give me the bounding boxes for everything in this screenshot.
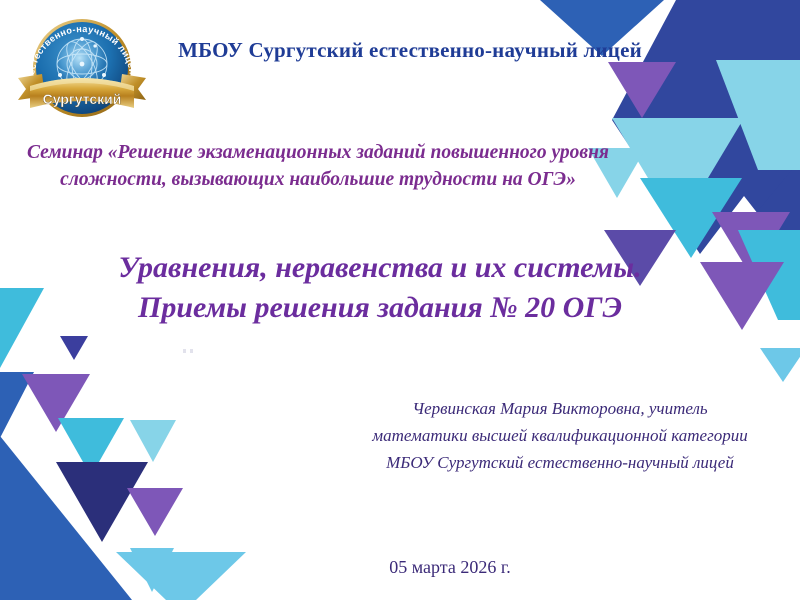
triangle-purple-low-right: [700, 262, 784, 330]
triangle-light-blue-right-low: [760, 348, 800, 382]
decorative-dots: [182, 348, 196, 354]
triangle-left-navy-big: [56, 462, 148, 542]
presentation-date: 05 марта 2026 г.: [300, 557, 600, 578]
author-line-3: МБОУ Сургутский естественно-научный лице…: [330, 450, 790, 477]
presentation-slide: естественно-научный лицей Сургутский МБО…: [0, 0, 800, 600]
triangle-left-royal-edge: [0, 372, 34, 438]
main-title-line-1: Уравнения, неравенства и их системы.: [60, 248, 700, 288]
logo-ribbon-text: Сургутский: [43, 91, 122, 107]
author-line-1: Червинская Мария Викторовна, учитель: [330, 396, 790, 423]
triangle-purple-right-mid: [712, 212, 790, 276]
triangle-bottom-light-blue: [116, 552, 246, 600]
triangle-upper-purple-small: [608, 62, 676, 118]
triangle-left-light-blue-mid: [130, 420, 176, 462]
author-block: Червинская Мария Викторовна, учитель мат…: [330, 396, 790, 477]
institution-title: МБОУ Сургутский естественно-научный лице…: [150, 38, 670, 62]
seminar-subtitle: Семинар «Решение экзаменационных заданий…: [8, 140, 628, 194]
triangle-left-purple-low: [127, 488, 183, 536]
triangle-left-cyan-mid: [58, 418, 124, 476]
school-logo: естественно-научный лицей Сургутский: [12, 8, 152, 130]
triangle-cyan-right-low: [738, 230, 800, 320]
triangle-left-purple: [22, 374, 90, 432]
main-title-line-2: Приемы решения задания № 20 ОГЭ: [60, 288, 700, 328]
triangle-left-royal-big: [0, 436, 132, 600]
triangle-cyan-mid: [640, 178, 742, 258]
triangle-top-right-corner-extra: [742, 160, 800, 300]
triangle-left-cyan-upper: [0, 288, 44, 368]
triangle-left-navy-small: [60, 336, 88, 360]
author-line-2: математики высшей квалификационной катег…: [330, 423, 790, 450]
main-title: Уравнения, неравенства и их системы. При…: [60, 248, 700, 328]
triangle-left-light-blue-sm: [130, 548, 174, 592]
triangle-light-blue-large: [612, 118, 744, 228]
triangle-light-blue-top-right: [716, 60, 800, 170]
